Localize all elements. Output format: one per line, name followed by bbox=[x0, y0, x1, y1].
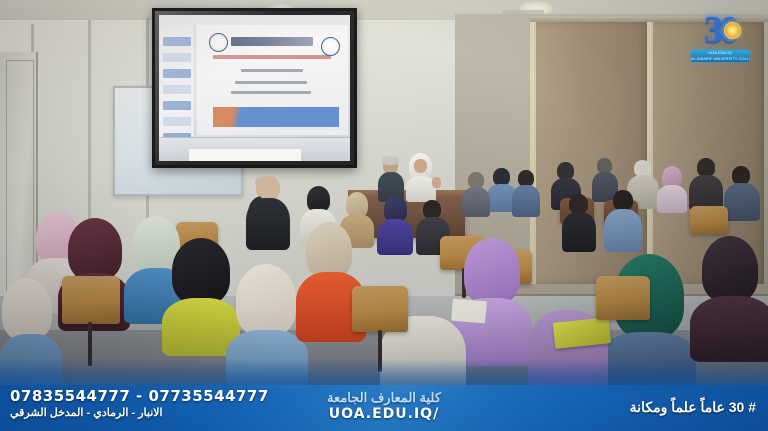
anniversary-number: 30 bbox=[680, 10, 760, 50]
branding-footer-bar: 07835544777 - 07735544777 الانبار - الرم… bbox=[0, 359, 768, 431]
torso bbox=[562, 212, 596, 252]
torso bbox=[690, 296, 768, 362]
hijab bbox=[702, 236, 758, 302]
slide-subtitle-text bbox=[213, 55, 331, 59]
presenter-male-hair bbox=[382, 156, 399, 165]
slide-thumbnail bbox=[163, 117, 191, 126]
torso bbox=[377, 219, 413, 255]
slide-body-line bbox=[235, 81, 307, 84]
university-emblem-left bbox=[209, 33, 228, 52]
audience-member bbox=[690, 236, 768, 358]
chair[interactable] bbox=[352, 286, 408, 332]
presenter-female-face bbox=[414, 159, 427, 173]
university-emblem-right bbox=[321, 37, 340, 56]
curtain-gap-2 bbox=[647, 22, 653, 284]
audience-member bbox=[604, 190, 642, 250]
presenter-male bbox=[378, 157, 404, 201]
lecture-hall-photo: 30 UOA.EDU.IQ AL-MAARIF UNIVERSITY COLLE… bbox=[0, 0, 768, 431]
presenter-female bbox=[406, 153, 436, 201]
audience-member bbox=[462, 172, 490, 214]
slide-thumbnail bbox=[163, 53, 191, 62]
head bbox=[569, 194, 588, 214]
presentation-taskbar[interactable] bbox=[159, 137, 350, 161]
slide-thumbnail bbox=[163, 85, 191, 94]
slide-body-line bbox=[241, 69, 303, 72]
audience-member bbox=[377, 196, 413, 252]
head bbox=[258, 176, 280, 200]
presenter-female-hand bbox=[432, 177, 441, 188]
hijab bbox=[172, 238, 230, 304]
torso bbox=[604, 209, 642, 252]
paper-sheet[interactable] bbox=[451, 299, 487, 324]
slide-body-line bbox=[231, 91, 311, 94]
audience-member bbox=[657, 166, 687, 212]
hijab bbox=[68, 218, 122, 280]
logo-plate: UOA.EDU.IQ AL-MAARIF UNIVERSITY COLLEGE bbox=[691, 50, 749, 62]
audience-member bbox=[562, 194, 596, 250]
hijab bbox=[236, 264, 296, 336]
torso bbox=[724, 183, 760, 221]
torso bbox=[512, 185, 540, 217]
slide-thumbnail bbox=[163, 69, 191, 78]
slide-thumbnail-rail bbox=[159, 25, 195, 147]
slide-thumbnail bbox=[163, 101, 191, 110]
footer-slogan: # 30 عاماً علماً ومكانة bbox=[630, 399, 756, 416]
torso bbox=[657, 185, 687, 213]
audience-grey-tshirt-man bbox=[246, 176, 290, 248]
chair[interactable] bbox=[596, 276, 650, 320]
torso bbox=[462, 187, 490, 217]
university-crest-icon bbox=[724, 22, 741, 39]
projected-slide bbox=[159, 15, 350, 161]
chair[interactable] bbox=[62, 276, 120, 324]
slide-canvas bbox=[197, 25, 348, 135]
hijab bbox=[2, 278, 52, 340]
anniversary-30-logo: 30 UOA.EDU.IQ AL-MAARIF UNIVERSITY COLLE… bbox=[680, 10, 760, 72]
logo-plate-line-2: AL-MAARIF UNIVERSITY COLLEGE bbox=[691, 56, 749, 62]
audience-member bbox=[689, 158, 723, 210]
head bbox=[613, 190, 633, 211]
projection-screen bbox=[152, 8, 357, 168]
audience-member bbox=[512, 170, 540, 214]
hijab bbox=[306, 222, 352, 278]
audience-member bbox=[724, 166, 758, 218]
slide-footer-banner bbox=[213, 107, 339, 127]
slide-thumbnail bbox=[163, 37, 191, 46]
hijab bbox=[464, 238, 520, 304]
chair[interactable] bbox=[690, 206, 728, 234]
slide-title-text bbox=[231, 37, 313, 46]
torso bbox=[246, 198, 290, 250]
